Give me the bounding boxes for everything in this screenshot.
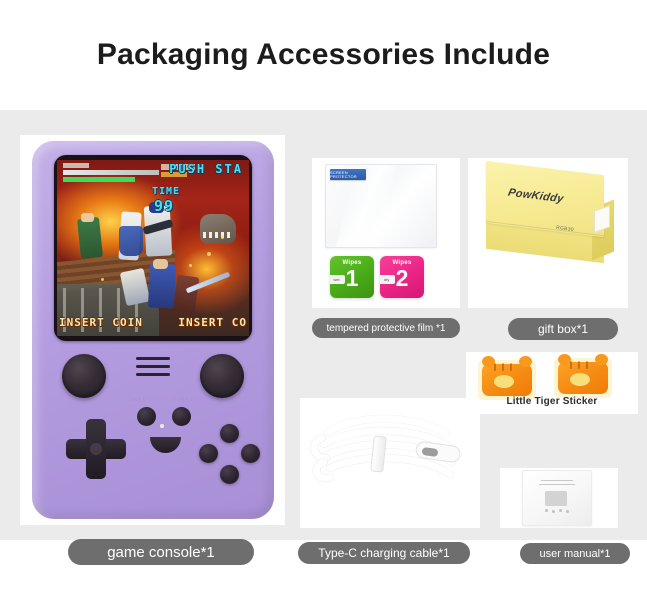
hud-insert-coin-row: INSERT COIN INSERT CO — [57, 314, 249, 330]
wet-wipe-packet: Wipes 1 wet — [330, 256, 374, 298]
tiger-ear-right — [519, 356, 532, 367]
power-led-icon — [160, 424, 164, 428]
tiger-ear-right — [595, 354, 608, 365]
game-sprite-blue-fighter — [148, 263, 176, 308]
game-sprite-blue-head — [153, 259, 168, 269]
face-button-y[interactable] — [220, 424, 239, 443]
game-ember — [101, 278, 104, 281]
tiger-stripe — [578, 361, 580, 369]
tiger-muzzle — [570, 373, 590, 386]
game-sprite-brown-fighter — [173, 275, 200, 314]
start-button[interactable] — [172, 407, 191, 426]
hud-player1-healthbar — [63, 170, 159, 175]
start-label: START — [172, 397, 194, 403]
game-sprite-green-head — [81, 213, 94, 222]
game-hud: PUSH STA — [61, 163, 245, 183]
dpad-center — [90, 443, 102, 455]
dry-wipe-packet: Wipes 2 dry — [380, 256, 424, 298]
hud-player1-greenbar — [63, 177, 135, 182]
hud-time-label: TIME — [152, 186, 180, 197]
game-sprite-monster — [200, 214, 236, 244]
game-sprite-green-warrior — [77, 217, 103, 259]
film-label-tab: SCREEN PROTECTOR — [330, 169, 366, 180]
tiger-sticker — [554, 358, 612, 398]
film-tab-text: SCREEN PROTECTOR — [330, 171, 366, 179]
hud-player1-name — [63, 163, 89, 168]
packaging-accessories-page: Packaging Accessories Include — [0, 0, 647, 591]
game-console-card[interactable]: PUSH STA TIME 99 INSERT COIN INSERT CO S… — [20, 135, 285, 525]
left-analog-stick[interactable] — [62, 354, 106, 398]
tiger-stripe — [502, 363, 504, 371]
wipe-2-tag: dry — [380, 275, 395, 284]
manual-diagram-dot — [566, 510, 569, 513]
type-c-cable-card[interactable] — [300, 398, 480, 528]
tiger-sticker — [478, 360, 536, 400]
tiger-stripe — [494, 363, 496, 371]
manual-diagram-dot — [552, 510, 555, 513]
manual-text-line — [539, 484, 575, 485]
speaker-grille-icon — [136, 365, 170, 368]
user-manual-label-badge: user manual*1 — [520, 543, 630, 564]
wipe-1-tag: wet — [330, 275, 345, 284]
usb-cable-icon — [300, 398, 480, 528]
tempered-film-card[interactable]: SCREEN PROTECTOR Wipes 1 wet Wipes 2 dry — [312, 158, 460, 308]
tiger-stripe — [570, 361, 572, 369]
type-c-cable-label-badge: Type-C charging cable*1 — [298, 542, 470, 564]
select-button[interactable] — [137, 407, 156, 426]
face-button-x[interactable] — [199, 444, 218, 463]
game-screen: PUSH STA TIME 99 INSERT COIN INSERT CO — [57, 160, 249, 336]
manual-diagram-dot — [559, 509, 562, 512]
page-header: Packaging Accessories Include — [0, 0, 647, 110]
speaker-grille-icon — [136, 373, 170, 376]
speaker-grille-icon — [136, 357, 170, 360]
tempered-film-label-badge: tempered protective film *1 — [312, 318, 460, 338]
gift-box-card[interactable]: PowKiddy RGB30 — [468, 158, 628, 308]
game-sprite-monster-teeth — [203, 232, 233, 238]
hud-time-value: 99 — [154, 197, 174, 215]
console-shell: PUSH STA TIME 99 INSERT COIN INSERT CO S… — [32, 141, 274, 519]
game-ember — [221, 236, 224, 239]
select-label: SELECT — [130, 397, 156, 403]
hud-push-start-text: PUSH STA — [169, 162, 243, 176]
gift-box-illustration: PowKiddy RGB30 — [482, 164, 616, 274]
user-manual-card[interactable] — [500, 468, 618, 528]
hud-insert-coin-left: INSERT COIN — [59, 316, 143, 329]
game-ember — [207, 252, 211, 256]
tempered-film-sheet: SCREEN PROTECTOR — [325, 164, 437, 248]
gift-box-label-badge: gift box*1 — [508, 318, 618, 340]
face-button-b[interactable] — [220, 465, 239, 484]
little-tiger-sticker-card[interactable]: Little Tiger Sticker — [466, 352, 638, 414]
tiger-muzzle — [494, 375, 514, 388]
home-button[interactable] — [150, 437, 181, 453]
little-tiger-sticker-label: Little Tiger Sticker — [466, 396, 638, 407]
manual-text-line — [541, 480, 573, 481]
face-button-a[interactable] — [241, 444, 260, 463]
manual-diagram — [545, 491, 567, 506]
page-title: Packaging Accessories Include — [97, 38, 550, 72]
d-pad[interactable] — [66, 419, 126, 479]
game-sprite-blue-cape — [119, 226, 143, 256]
hud-insert-coin-right: INSERT CO — [178, 316, 247, 329]
tiger-stripe — [510, 363, 512, 371]
game-console-label-badge: game console*1 — [68, 539, 254, 565]
tiger-stripe — [586, 361, 588, 369]
game-ember — [189, 264, 192, 267]
right-analog-stick[interactable] — [200, 354, 244, 398]
manual-diagram-dot — [545, 509, 548, 512]
console-screen-bezel: PUSH STA TIME 99 INSERT COIN INSERT CO — [54, 155, 252, 341]
user-manual-booklet — [522, 470, 592, 526]
